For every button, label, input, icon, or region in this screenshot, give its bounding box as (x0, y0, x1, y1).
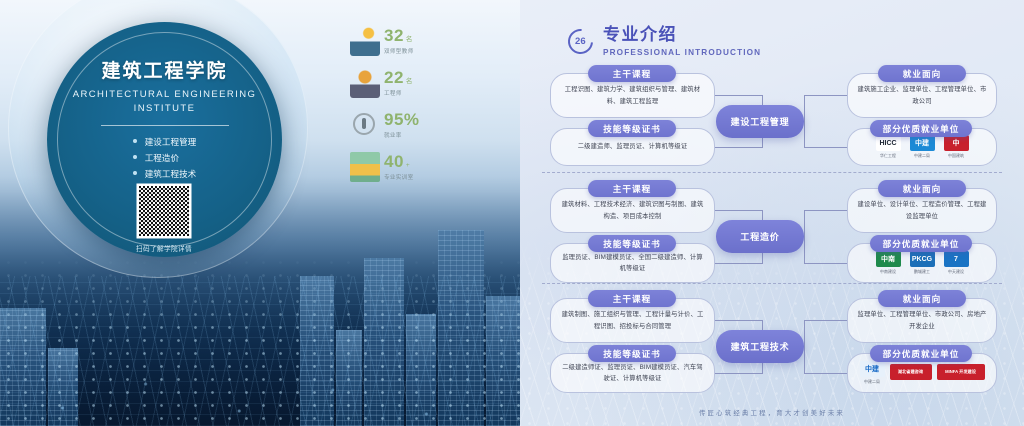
certificates-label: 技能等级证书 (588, 235, 676, 252)
logo-mark: 7 (944, 251, 969, 267)
courses-text: 建筑材料、工程技术经济、建筑识图与制图、建筑构造、项目成本控制 (551, 199, 714, 221)
program-node[interactable]: 建设工程管理 (716, 105, 804, 138)
row-divider (542, 172, 1002, 173)
page-title: 专业介绍 (603, 26, 761, 45)
employment-text: 建设单位、设计单位、工程造价管理、工程建设监理单位 (848, 199, 996, 221)
stat-item: 40+ 专业实训室 (350, 152, 460, 190)
employment-text: 监理单位、工程管理单位、市政公司、房地产开发企业 (848, 309, 996, 331)
employer-logo: MINFA 开发建设 (937, 364, 985, 382)
logo-mark: 中南 (876, 251, 901, 267)
stat-value: 32 (384, 26, 404, 45)
connector (715, 147, 763, 148)
program-row: 建筑材料、工程技术经济、建筑识图与制图、建筑构造、项目成本控制 主干课程 监理员… (520, 180, 1024, 285)
logo-mark: 中建 (860, 361, 885, 377)
logo-caption: 中建二局 (910, 153, 935, 159)
logo-caption: 鹏城建工 (910, 269, 935, 275)
employers-label: 部分优质就业单位 (870, 345, 972, 362)
logo-caption: 中建二局 (860, 379, 885, 385)
connector (715, 210, 763, 211)
employer-logo: 中 中国建筑 (944, 135, 969, 159)
program-node[interactable]: 建筑工程技术 (716, 330, 804, 363)
institute-name-en: ARCHITECTURAL ENGINEERING INSTITUTE (47, 88, 282, 116)
mesh-dots-overlay (0, 256, 520, 426)
connector (715, 95, 763, 96)
left-panel: 建筑工程学院 ARCHITECTURAL ENGINEERING INSTITU… (0, 0, 520, 426)
certificates-text: 二级建造师证、监理员证、BIM建模员证、汽车驾驶证、计算机等级证 (551, 362, 714, 384)
connector (715, 263, 763, 264)
stat-label: 双师型教师 (384, 47, 413, 55)
page-subtitle: PROFESSIONAL INTRODUCTION (603, 48, 761, 57)
qr-block: 扫码了解学院详情 (120, 186, 208, 253)
institute-name-cn: 建筑工程学院 (101, 56, 227, 83)
lab-icon (350, 152, 380, 182)
stat-item: 22名 工程师 (350, 68, 460, 106)
employment-label: 就业面向 (878, 180, 966, 197)
employment-label: 就业面向 (878, 290, 966, 307)
employer-logo: 中建 中建二局 (860, 361, 885, 385)
logo-caption: 中南建设 (876, 269, 901, 275)
employers-label: 部分优质就业单位 (870, 120, 972, 137)
logo-mark: MINFA 开发建设 (937, 364, 985, 380)
connector (804, 263, 848, 264)
stat-unit: + (406, 162, 410, 169)
employer-logo-row: HICC 华仁工程 中建 中建二局 中 中国建筑 (876, 135, 969, 159)
courses-label: 主干课程 (588, 180, 676, 197)
list-item: 建筑工程技术 (133, 166, 197, 182)
qr-code-icon[interactable] (139, 186, 189, 236)
connector (804, 95, 805, 147)
connector (715, 373, 763, 374)
connector (804, 210, 805, 263)
certificates-text: 监理员证、BIM建模员证、全国二级建造师、计算机等级证 (551, 252, 714, 274)
certificates-label: 技能等级证书 (588, 345, 676, 362)
stat-item: 95% 就业率 (350, 110, 460, 148)
logo-mark: 中建 (910, 135, 935, 151)
employer-logo-row: 中建 中建二局 湖北省建咨询 MINFA 开发建设 (860, 361, 985, 385)
logo-caption: 华仁工程 (876, 153, 901, 159)
employer-logo: HICC 华仁工程 (876, 135, 901, 159)
stat-value: 40 (384, 152, 404, 171)
stat-unit: 名 (406, 36, 413, 43)
right-panel: 26 专业介绍 PROFESSIONAL INTRODUCTION 工程识图、建… (520, 0, 1024, 426)
teacher-icon (350, 26, 380, 56)
employer-logo: 7 中天建设 (944, 251, 969, 275)
logo-mark: 湖北省建咨询 (890, 364, 932, 380)
logo-caption: 中天建设 (944, 269, 969, 275)
section-number-badge: 26 (563, 24, 598, 59)
employers-label: 部分优质就业单位 (870, 235, 972, 252)
stat-label: 工程师 (384, 89, 413, 97)
employment-text: 建筑施工企业、监理单位、工程管理单位、市政公司 (848, 84, 996, 106)
courses-text: 工程识图、建筑力学、建筑组织与管理、建筑材料、建筑工程监理 (551, 84, 714, 106)
employment-label: 就业面向 (878, 65, 966, 82)
poster-page: 建筑工程学院 ARCHITECTURAL ENGINEERING INSTITU… (0, 0, 1024, 426)
employer-logo: PKCG 鹏城建工 (910, 251, 935, 275)
employer-logo: 中南 中南建设 (876, 251, 901, 275)
stat-value: 95% (384, 110, 420, 129)
connector (804, 147, 848, 148)
courses-label: 主干课程 (588, 290, 676, 307)
qr-caption: 扫码了解学院详情 (120, 243, 208, 253)
employer-logo: 湖北省建咨询 (890, 364, 932, 382)
connector (804, 320, 848, 321)
divider (101, 125, 229, 126)
row-divider (542, 283, 1002, 284)
program-row: 建筑制图、施工组织与管理、工程计量与计价、工程识图、招投标与合同管理 主干课程 … (520, 290, 1024, 395)
certificates-text: 二级建造师、监理员证、计算机等级证 (569, 141, 697, 152)
employer-logo: 中建 中建二局 (910, 135, 935, 159)
program-node[interactable]: 工程造价 (716, 220, 804, 253)
logo-caption: 中国建筑 (944, 153, 969, 159)
stat-unit: 名 (406, 78, 413, 85)
connector (804, 210, 848, 211)
courses-label: 主干课程 (588, 65, 676, 82)
connector (804, 95, 848, 96)
connector (715, 320, 763, 321)
stat-value: 22 (384, 68, 404, 87)
stat-item: 32名 双师型教师 (350, 26, 460, 64)
connector (804, 373, 848, 374)
employer-logo-row: 中南 中南建设 PKCG 鹏城建工 7 中天建设 (876, 251, 969, 275)
list-item: 工程造价 (133, 150, 197, 166)
logo-mark: HICC (876, 135, 901, 151)
section-number: 26 (575, 36, 586, 47)
courses-text: 建筑制图、施工组织与管理、工程计量与计价、工程识图、招投标与合同管理 (551, 309, 714, 331)
list-item: 建设工程管理 (133, 134, 197, 150)
rate-icon (350, 110, 380, 140)
footer-slogan: 传匠心筑经典工程，育大才创美好未来 (520, 408, 1024, 417)
engineer-icon (350, 68, 380, 98)
major-list: 建设工程管理 工程造价 建筑工程技术 (133, 134, 197, 183)
logo-mark: PKCG (910, 251, 935, 267)
stat-label: 就业率 (384, 131, 422, 139)
section-header: 26 专业介绍 PROFESSIONAL INTRODUCTION (568, 26, 761, 57)
connector (804, 320, 805, 373)
logo-mark: 中 (944, 135, 969, 151)
stats-list: 32名 双师型教师 22名 工程师 95% 就业率 (350, 26, 460, 194)
stat-label: 专业实训室 (384, 173, 413, 181)
certificates-label: 技能等级证书 (588, 120, 676, 137)
program-row: 工程识图、建筑力学、建筑组织与管理、建筑材料、建筑工程监理 主干课程 二级建造师… (520, 65, 1024, 170)
